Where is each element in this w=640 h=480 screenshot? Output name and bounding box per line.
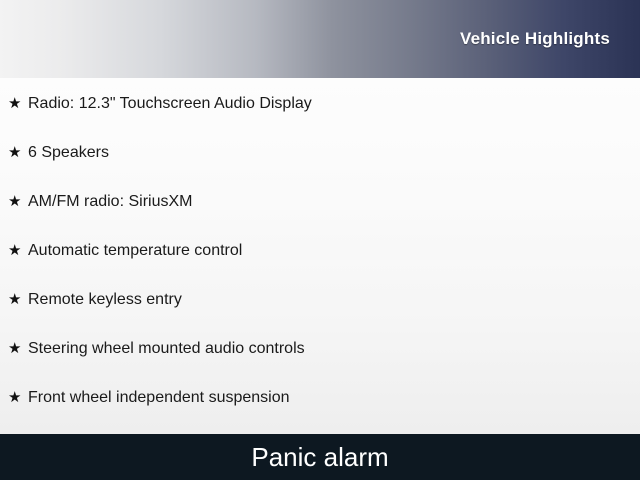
list-item-label: 6 Speakers: [28, 145, 109, 161]
star-icon: ★: [8, 194, 28, 209]
star-icon: ★: [8, 292, 28, 307]
star-icon: ★: [8, 341, 28, 356]
list-item-label: Front wheel independent suspension: [28, 390, 290, 406]
star-icon: ★: [8, 96, 28, 111]
list-item: ★ AM/FM radio: SiriusXM: [0, 194, 640, 243]
list-item-label: Steering wheel mounted audio controls: [28, 341, 305, 357]
slide-footer: Panic alarm: [0, 434, 640, 480]
feature-list: ★ Radio: 12.3" Touchscreen Audio Display…: [0, 96, 640, 434]
vehicle-highlights-slide: Vehicle Highlights ★ Radio: 12.3" Touchs…: [0, 0, 640, 480]
list-item: ★ 6 Speakers: [0, 145, 640, 194]
list-item-label: Automatic temperature control: [28, 243, 242, 259]
list-item: ★ Automatic temperature control: [0, 243, 640, 292]
star-icon: ★: [8, 243, 28, 258]
list-item: ★ Remote keyless entry: [0, 292, 640, 341]
list-item: ★ Radio: 12.3" Touchscreen Audio Display: [0, 96, 640, 145]
highlights-content: ★ Radio: 12.3" Touchscreen Audio Display…: [0, 78, 640, 434]
list-item: ★ Steering wheel mounted audio controls: [0, 341, 640, 390]
slide-header: Vehicle Highlights: [0, 0, 640, 78]
list-item-label: AM/FM radio: SiriusXM: [28, 194, 192, 210]
page-title: Vehicle Highlights: [460, 29, 610, 49]
list-item-label: Remote keyless entry: [28, 292, 182, 308]
footer-caption: Panic alarm: [251, 444, 388, 470]
star-icon: ★: [8, 390, 28, 405]
list-item-label: Radio: 12.3" Touchscreen Audio Display: [28, 96, 312, 112]
list-item: ★ Front wheel independent suspension: [0, 390, 640, 434]
star-icon: ★: [8, 145, 28, 160]
